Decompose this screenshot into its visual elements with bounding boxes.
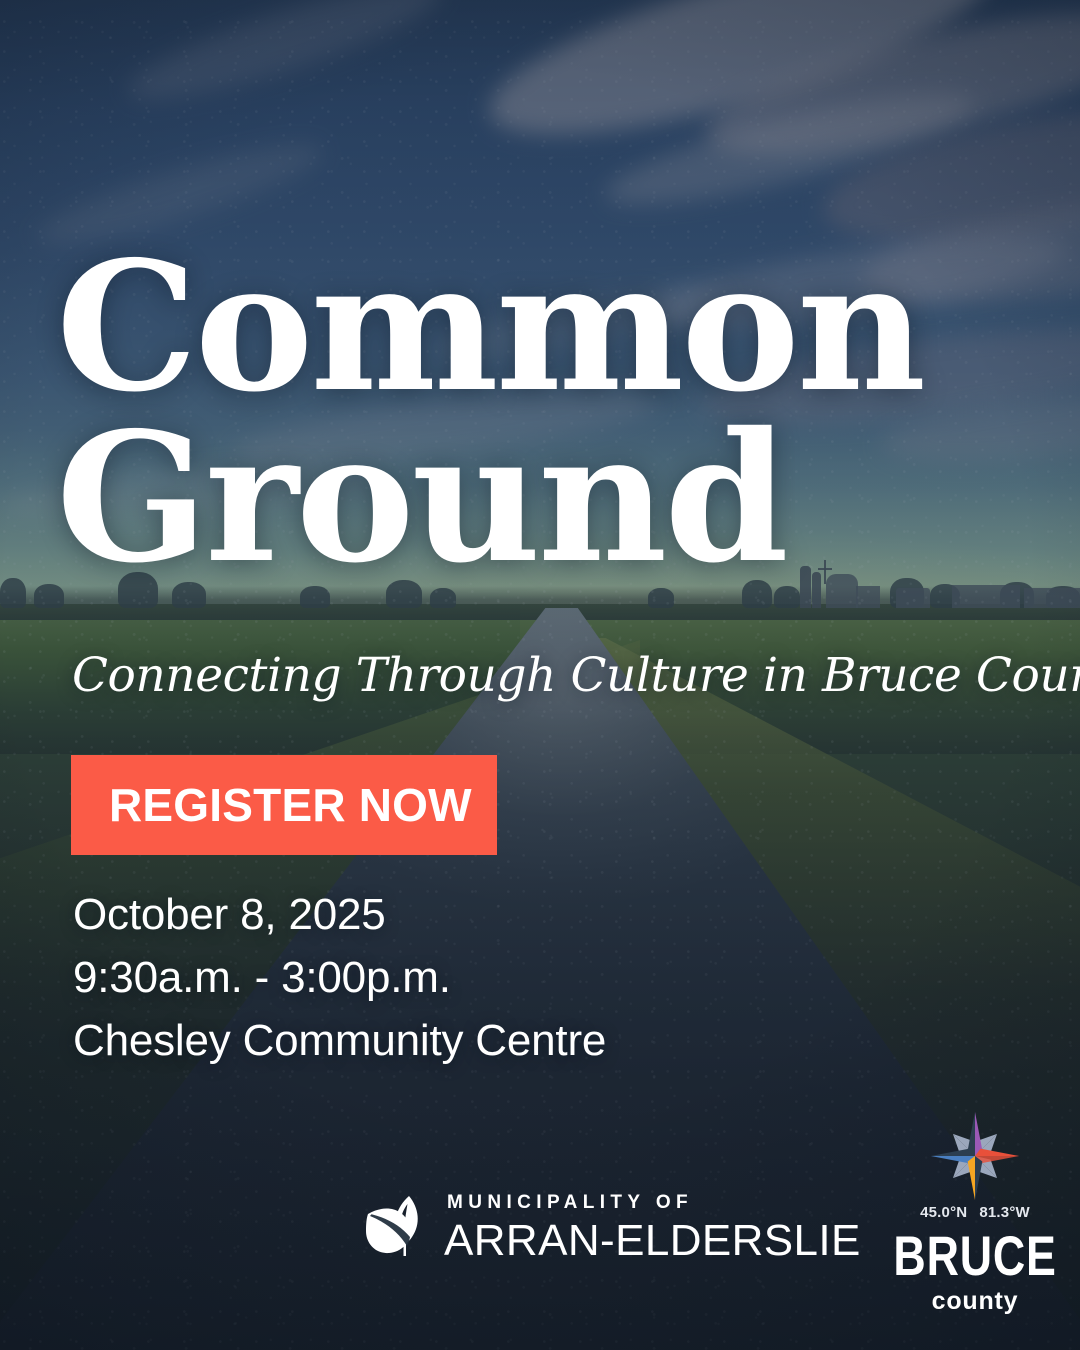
two-leaves-icon [365, 1190, 427, 1264]
poster: CommonGround Connecting Through Culture … [0, 0, 1080, 1350]
subtitle: Connecting Through Culture in Bruce Coun… [72, 648, 1052, 703]
bruce-wordmark: BRUCE [893, 1228, 1056, 1284]
municipality-name: ARRAN-ELDERSLIE [444, 1219, 861, 1263]
event-time: 9:30a.m. - 3:00p.m. [73, 947, 793, 1010]
headline-line-2: Ground [56, 413, 1016, 584]
page-title: CommonGround [56, 242, 1016, 584]
municipality-eyebrow: MUNICIPALITY OF [444, 1192, 861, 1214]
latitude-label: 45.0°N [920, 1204, 967, 1221]
compass-rose-icon [929, 1110, 1021, 1202]
register-now-label: REGISTER NOW [109, 778, 472, 832]
bruce-county-logo: 45.0°N 81.3°W BRUCE county [900, 1110, 1050, 1314]
arran-elderslie-wordmark: MUNICIPALITY OF ARRAN-ELDERSLIE [444, 1192, 861, 1263]
county-wordmark: county [932, 1289, 1019, 1314]
bruce-county-coordinates: 45.0°N 81.3°W [920, 1204, 1030, 1221]
event-date: October 8, 2025 [73, 884, 793, 947]
longitude-label: 81.3°W [979, 1204, 1030, 1221]
event-details: October 8, 2025 9:30a.m. - 3:00p.m. Ches… [73, 884, 793, 1073]
register-now-button[interactable]: REGISTER NOW [71, 755, 497, 855]
arran-elderslie-logo: MUNICIPALITY OF ARRAN-ELDERSLIE [365, 1190, 861, 1264]
event-venue: Chesley Community Centre [73, 1010, 793, 1073]
poster-content: CommonGround Connecting Through Culture … [0, 0, 1080, 1350]
